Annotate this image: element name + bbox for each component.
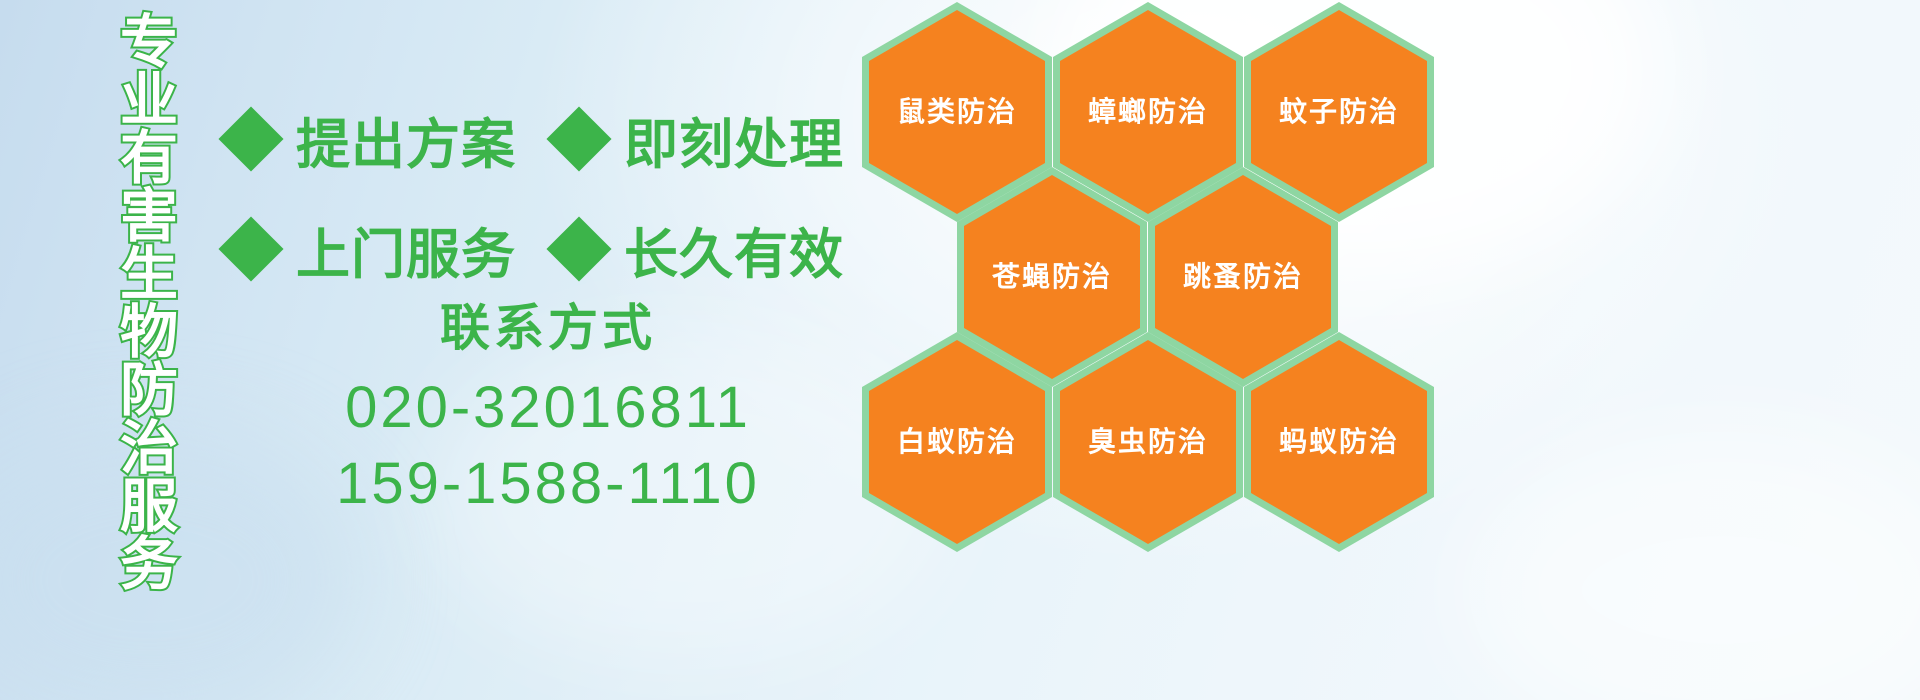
vertical-title: 专 业 有 害 生 物 防 治 服 务 [112,14,186,562]
feature-label: 提出方案 [296,100,516,179]
service-hex-inner: 臭虫防治 [1060,340,1236,544]
vertical-title-char: 有 [120,130,178,188]
vertical-title-char: 物 [120,304,178,362]
feature-item: 即刻处理 [556,100,844,179]
service-hex-label: 蟑螂防治 [1088,98,1208,126]
feature-row: 提出方案 即刻处理 [228,84,868,194]
service-hex-inner: 蚊子防治 [1251,10,1427,214]
vertical-title-char: 服 [120,478,178,536]
feature-label: 上门服务 [296,210,516,289]
service-hex-label: 苍蝇防治 [992,263,1112,291]
service-hex-label: 臭虫防治 [1088,428,1208,456]
service-hex-label: 白蚁防治 [897,428,1017,456]
service-hex-label: 鼠类防治 [897,98,1017,126]
service-hex-inner: 蚂蚁防治 [1251,340,1427,544]
diamond-bullet-icon [546,106,611,171]
vertical-title-char: 治 [120,420,178,478]
vertical-title-char: 害 [120,188,178,246]
feature-item: 上门服务 [228,210,516,289]
service-hex-inner: 蟑螂防治 [1060,10,1236,214]
service-hex-inner: 鼠类防治 [869,10,1045,214]
diamond-bullet-icon [546,216,611,281]
vertical-title-char: 生 [120,246,178,304]
feature-row: 上门服务 长久有效 [228,194,868,304]
feature-label: 长久有效 [624,210,844,289]
feature-item: 长久有效 [556,210,844,289]
service-hex-inner: 白蚁防治 [869,340,1045,544]
contact-phone-landline[interactable]: 020-32016811 [228,370,868,447]
vertical-title-char: 防 [120,362,178,420]
diamond-bullet-icon [218,106,283,171]
banner-root: 专 业 有 害 生 物 防 治 服 务 提出方案 即刻处理 上门服务 [0,0,1920,700]
contact-phone-mobile[interactable]: 159-1588-1110 [228,446,868,523]
contact-title: 联系方式 [228,300,868,358]
vertical-title-char: 业 [120,72,178,130]
contact-block: 联系方式 020-32016811 159-1588-1110 [228,300,868,523]
vertical-title-char: 务 [120,536,178,594]
service-hex-label: 跳蚤防治 [1183,263,1303,291]
service-hex-label: 蚂蚁防治 [1279,428,1399,456]
service-hex-inner: 跳蚤防治 [1155,175,1331,379]
feature-item: 提出方案 [228,100,516,179]
service-hex-label: 蚊子防治 [1279,98,1399,126]
feature-label: 即刻处理 [624,100,844,179]
feature-list: 提出方案 即刻处理 上门服务 长久有效 [228,84,868,304]
service-hex-inner: 苍蝇防治 [964,175,1140,379]
service-honeycomb: 鼠类防治 蟑螂防治 蚊子防治 苍蝇防治 跳蚤防治 白蚁防 [856,0,1456,572]
diamond-bullet-icon [218,216,283,281]
background-glow-bottom-right [1460,430,1920,700]
vertical-title-char: 专 [120,14,178,72]
